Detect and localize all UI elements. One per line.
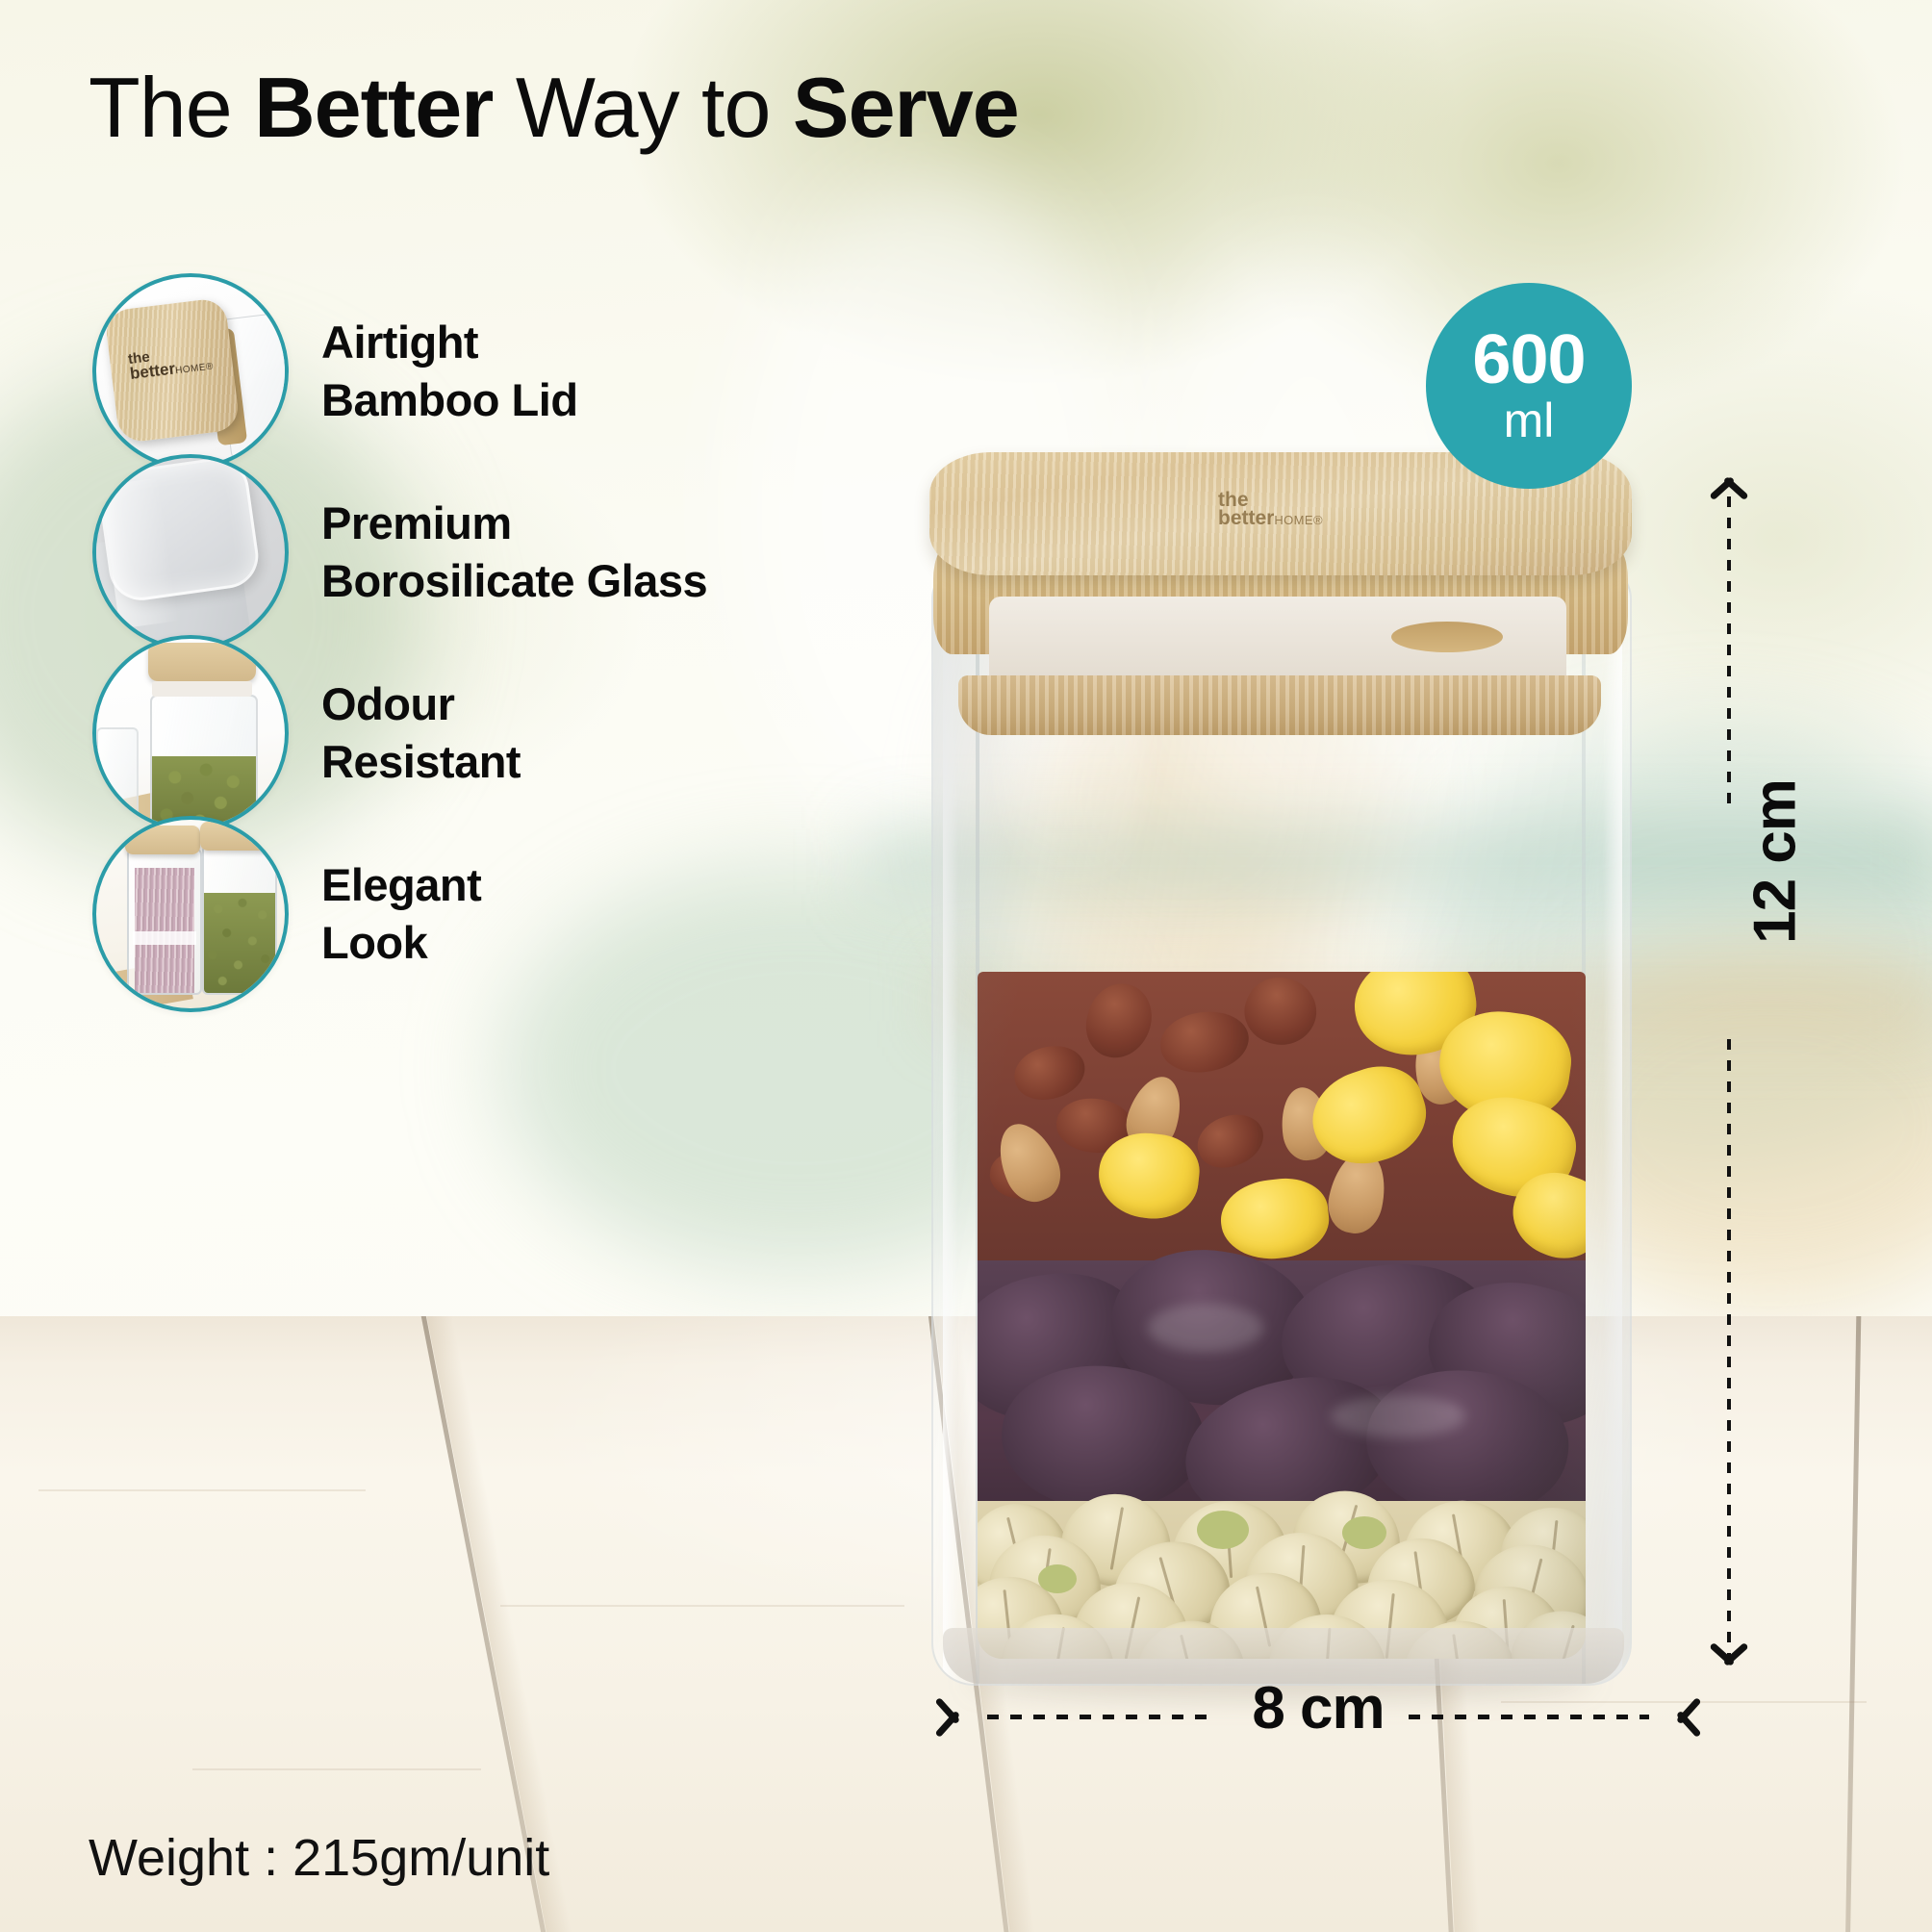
prune-layer bbox=[978, 1260, 1586, 1501]
feature-item-elegant-look: Elegant Look bbox=[92, 824, 901, 1004]
title-part-1: The bbox=[89, 60, 254, 155]
lid-notch bbox=[1391, 622, 1503, 652]
title-part-3: Way to bbox=[493, 60, 792, 155]
title-part-4: Serve bbox=[793, 60, 1019, 155]
arrow-right-icon bbox=[1655, 1693, 1682, 1741]
feature-label-line2: Borosilicate Glass bbox=[321, 552, 707, 610]
dried-fruit-layer bbox=[978, 972, 1586, 1260]
feature-list: the betterHOME® Airtight Bamboo Lid Prem bbox=[92, 281, 901, 1004]
feature-label-line1: Odour bbox=[321, 675, 521, 733]
capacity-value: 600 bbox=[1472, 327, 1585, 394]
product-jar-image: the betterHOME® bbox=[929, 452, 1632, 1693]
feature-label-line1: Elegant bbox=[321, 856, 481, 914]
odour-resistant-thumbnail-icon bbox=[92, 635, 289, 831]
height-dimension-indicator: 12 cm bbox=[1727, 481, 1731, 1682]
width-dimension-label: 8 cm bbox=[962, 1674, 1674, 1742]
feature-item-airtight-bamboo-lid: the betterHOME® Airtight Bamboo Lid bbox=[92, 281, 901, 462]
feature-label-line2: Look bbox=[321, 914, 481, 972]
feature-label-premium-borosilicate-glass: Premium Borosilicate Glass bbox=[321, 495, 707, 610]
dimension-line-right bbox=[1409, 1715, 1649, 1719]
elegant-look-thumbnail-icon bbox=[92, 816, 289, 1012]
feature-label-odour-resistant: Odour Resistant bbox=[321, 675, 521, 791]
feature-label-line1: Premium bbox=[321, 495, 707, 552]
width-dimension-indicator: 8 cm bbox=[962, 1715, 1674, 1720]
feature-label-elegant-look: Elegant Look bbox=[321, 856, 481, 972]
lid-logo-line2: better bbox=[1218, 507, 1274, 529]
capacity-unit: ml bbox=[1504, 396, 1555, 445]
feature-label-line2: Resistant bbox=[321, 733, 521, 791]
bamboo-lid-thumbnail-icon: the betterHOME® bbox=[92, 273, 289, 470]
page-title: The Better Way to Serve bbox=[89, 65, 1019, 150]
title-part-2: Better bbox=[254, 60, 493, 155]
feature-label-line2: Bamboo Lid bbox=[321, 371, 578, 429]
product-infographic: The Better Way to Serve the betterHOME® … bbox=[0, 0, 1932, 1932]
feature-label-airtight-bamboo-lid: Airtight Bamboo Lid bbox=[321, 314, 578, 429]
feature-item-odour-resistant: Odour Resistant bbox=[92, 643, 901, 824]
arrow-down-icon bbox=[1706, 1661, 1752, 1688]
feature-label-line1: Airtight bbox=[321, 314, 578, 371]
capacity-badge: 600 ml bbox=[1426, 283, 1632, 489]
lid-logo-suffix: HOME® bbox=[1274, 513, 1323, 527]
lid-brand-logo: the betterHOME® bbox=[1218, 491, 1323, 528]
borosilicate-glass-thumbnail-icon bbox=[92, 454, 289, 650]
jar-contents bbox=[978, 972, 1586, 1659]
dimension-line-upper bbox=[1727, 496, 1731, 814]
dimension-line-lower bbox=[1727, 1039, 1731, 1666]
feature-item-premium-borosilicate-glass: Premium Borosilicate Glass bbox=[92, 462, 901, 643]
weight-text: Weight : 215gm/unit bbox=[89, 1828, 549, 1888]
lid-lower-lip bbox=[958, 675, 1601, 735]
height-dimension-label: 12 cm bbox=[1741, 756, 1810, 968]
